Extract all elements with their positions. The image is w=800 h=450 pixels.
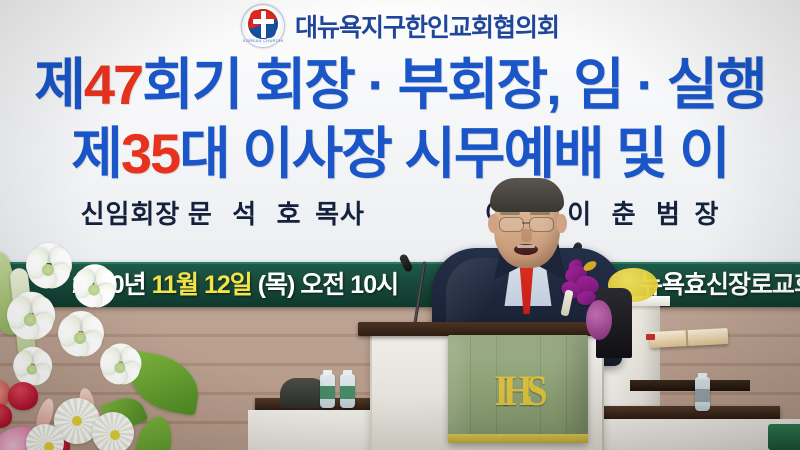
nose — [521, 229, 532, 242]
eyebrow-left — [500, 212, 520, 215]
line2-rest: 이사장 시무예배 및 이 — [242, 122, 728, 185]
line1-prefix: 제 — [34, 53, 84, 116]
photo-scene: KOREAN CHURCHES ASSOCIATION 대뉴욕지구한인교회협의회… — [0, 0, 800, 450]
banner-headline-line-2: 제35대 이사장 시무예배 및 이 — [0, 121, 800, 187]
bible-bookmark-icon — [646, 334, 655, 340]
emblem-arc-text: KOREAN CHURCHES ASSOCIATION — [243, 34, 283, 47]
organization-header: KOREAN CHURCHES ASSOCIATION 대뉴욕지구한인교회협의회 — [0, 2, 800, 50]
new-president-role: 신임회장 — [81, 200, 181, 229]
line2-suffix: 대 — [179, 122, 229, 185]
organization-name: 대뉴욕지구한인교회협의회 — [295, 8, 559, 44]
mouth — [514, 244, 538, 255]
ear-left — [488, 214, 499, 233]
chairman-title: 장 — [694, 200, 719, 229]
white-amaryllis — [91, 343, 147, 390]
white-amaryllis — [64, 263, 123, 312]
eyeglass-lens-left — [499, 217, 524, 232]
left-ledge-panel — [248, 410, 388, 450]
line1-rest: 회장 · 부회장, 임 · 실행 — [255, 53, 766, 116]
line2-prefix: 제 — [71, 122, 121, 185]
new-president-title: 목사 — [315, 200, 365, 229]
red-carnation — [8, 382, 38, 410]
eyeglass-bridge — [522, 222, 530, 224]
pulpit-top-rail — [358, 322, 612, 336]
water-bottle — [695, 377, 710, 411]
event-weekday: (목) — [258, 271, 295, 299]
white-chrysanthemum — [92, 412, 134, 450]
congratulatory-flower-stand — [0, 248, 254, 450]
event-banner: KOREAN CHURCHES ASSOCIATION 대뉴욕지구한인교회협의회… — [0, 0, 800, 264]
taegeuk-cross-emblem-icon: KOREAN CHURCHES ASSOCIATION — [241, 4, 285, 48]
pulpit-cloth: IHS — [448, 335, 588, 443]
ear-right — [556, 214, 567, 233]
water-bottle — [320, 374, 335, 408]
water-bottle — [340, 374, 355, 408]
eyebrow-right — [530, 212, 550, 215]
line2-number: 35 — [121, 122, 179, 185]
banner-names-line: 신임회장 문 석 호 목사 이사장 이 춘 범 장 — [0, 194, 800, 231]
event-time: 오전 10시 — [300, 271, 398, 299]
new-president-name: 문 석 호 — [188, 200, 308, 229]
hair — [490, 178, 564, 212]
pulpit-cloth-hem — [448, 434, 588, 443]
ihs-monogram-icon: IHS — [448, 366, 588, 417]
right-ledge — [600, 406, 780, 419]
green-object — [768, 424, 800, 450]
line1-number: 47 — [84, 53, 142, 116]
right-shelf — [630, 380, 750, 391]
line1-suffix: 회기 — [142, 53, 241, 116]
red-carnation — [0, 404, 12, 428]
banner-headline-line-1: 제47회기 회장 · 부회장, 임 · 실행 — [0, 52, 800, 118]
eyeglass-lens-right — [529, 217, 554, 232]
purple-flower-blob — [586, 300, 612, 340]
